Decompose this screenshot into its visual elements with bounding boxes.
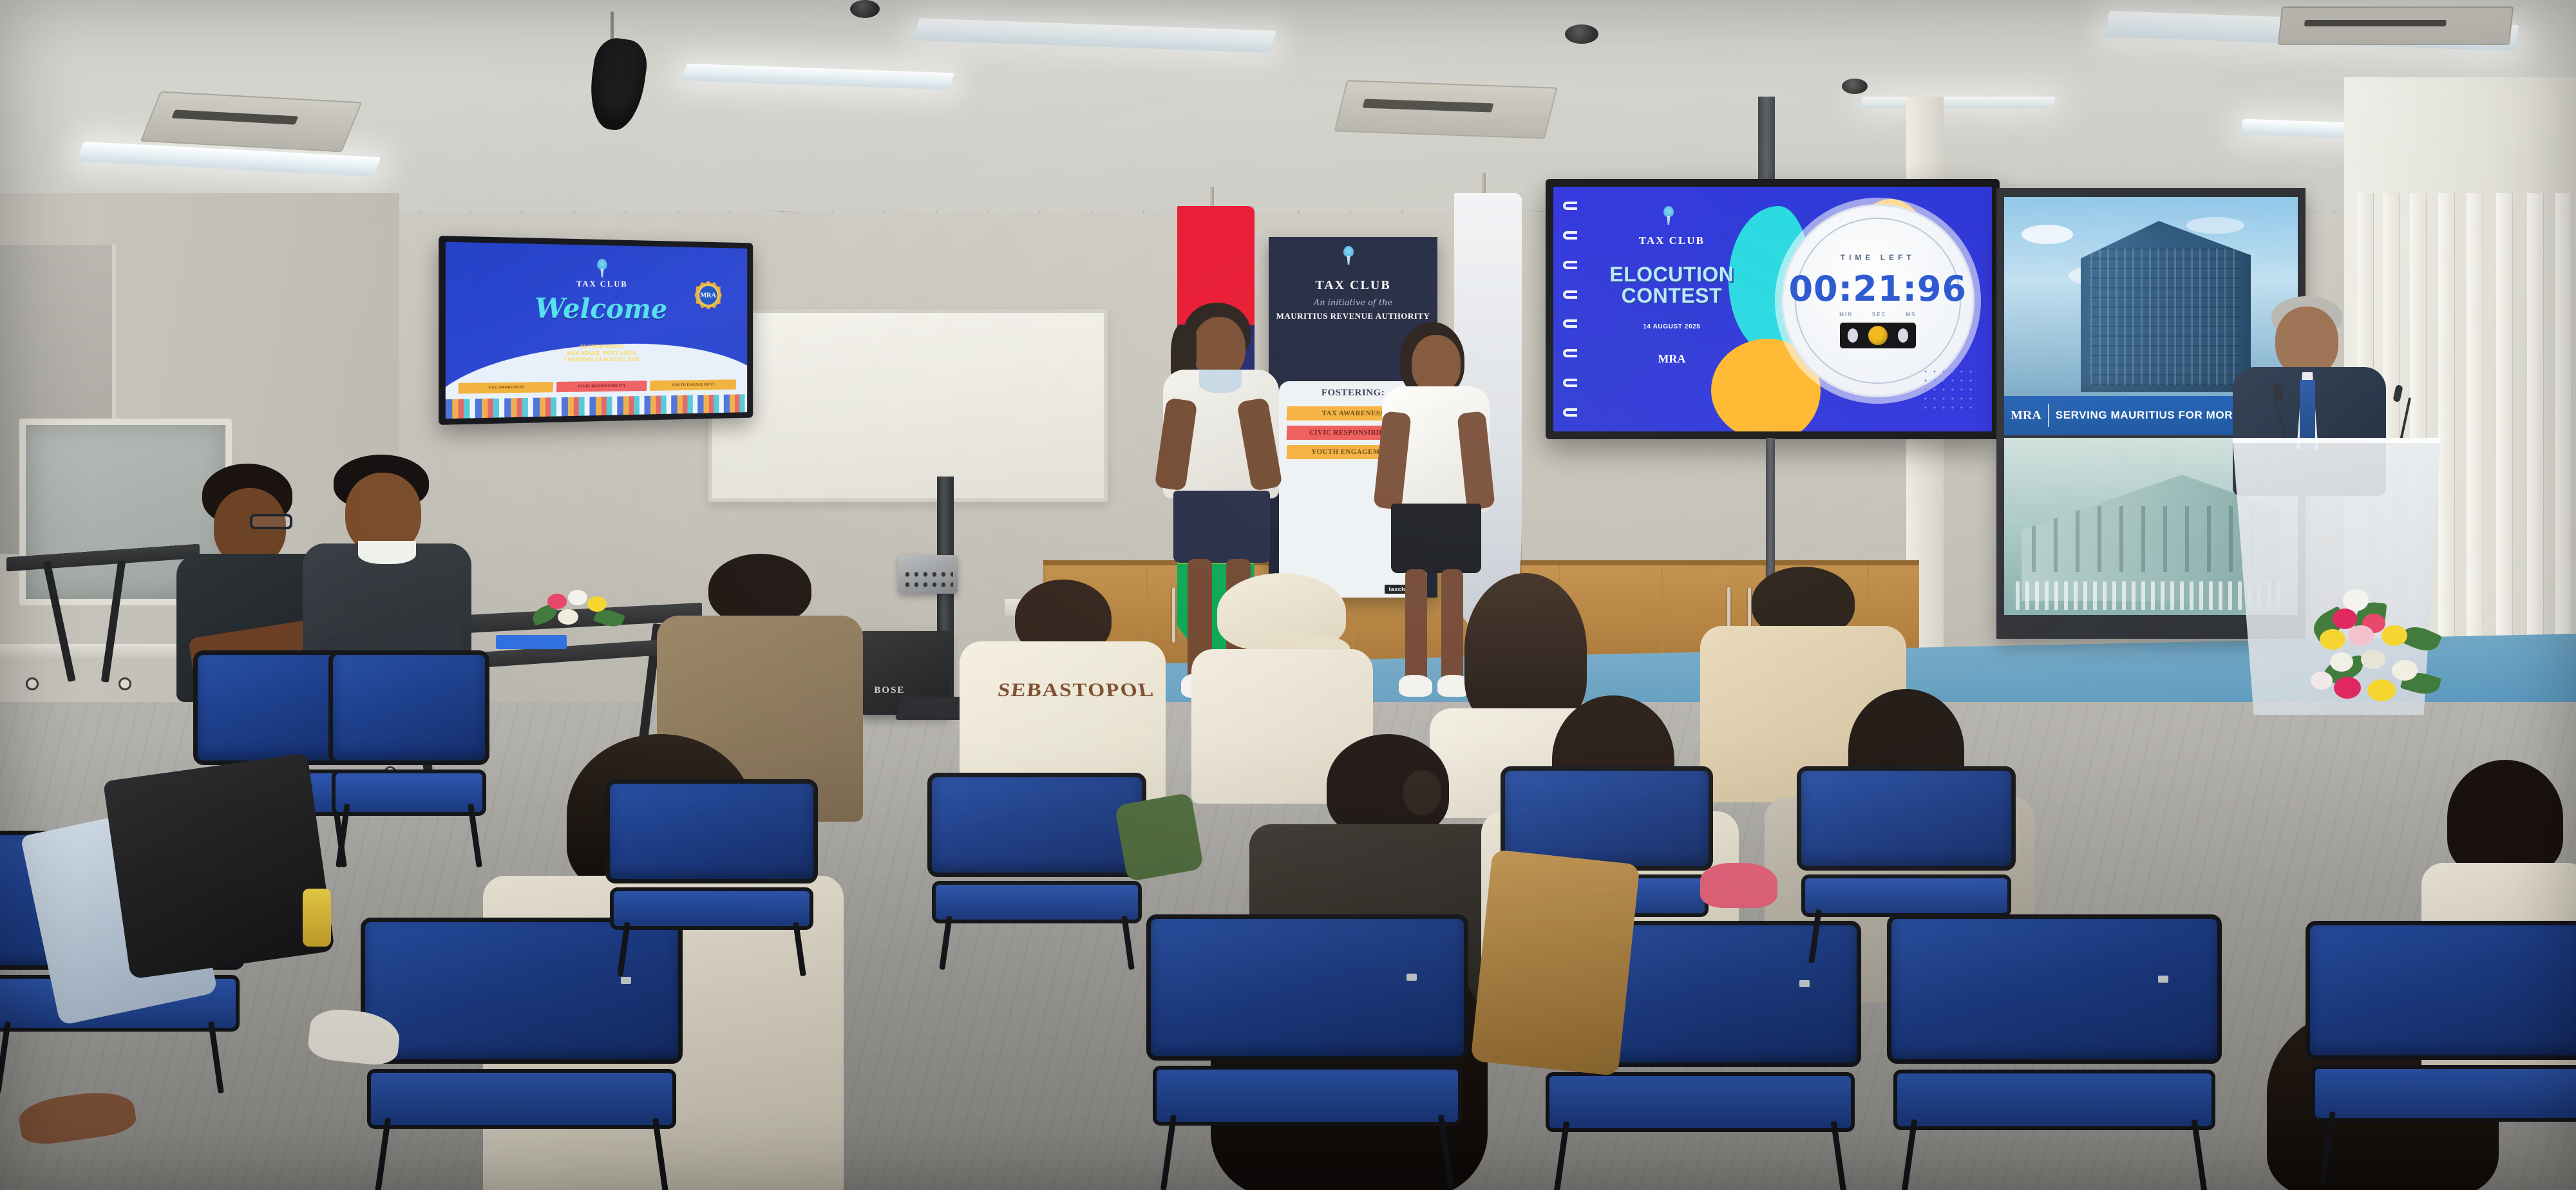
chair-seat[interactable] [2311, 1065, 2576, 1122]
welcome-banner-2: CIVIC RESPONSIBILITY [556, 381, 647, 392]
hanging-speaker-icon [585, 35, 650, 133]
chair-leg [939, 916, 952, 970]
notebook-spiral-decoration [1563, 202, 1580, 417]
tv-ceiling-pole [1758, 97, 1775, 187]
chair-tag [621, 977, 631, 984]
leg [1405, 569, 1427, 683]
chair-leg [1121, 916, 1135, 970]
chair-leg [208, 1021, 223, 1093]
conference-room-photo: TAX CLUB Welcome CUSTOM HOUSE MRA HOUSE,… [0, 0, 2576, 1190]
rollup-script-line: An initiative of the [1274, 298, 1432, 308]
ceiling-light-panel [681, 64, 954, 90]
ceiling-dome-speaker-icon [850, 0, 880, 18]
chair-leg [793, 922, 806, 976]
chair-leg [1160, 1115, 1177, 1190]
decor-dot-grid [1921, 367, 1979, 412]
chair-seat[interactable] [367, 1069, 676, 1128]
welcome-slide: TAX CLUB Welcome CUSTOM HOUSE MRA HOUSE,… [446, 242, 747, 419]
timer-date: 14 AUGUST 2025 [1593, 323, 1750, 330]
mixer-knobs[interactable] [903, 569, 952, 589]
chair-backrest[interactable] [2306, 921, 2576, 1060]
rollup-club-name: TAX CLUB [1274, 278, 1432, 293]
mra-logo-icon: MRA [2011, 408, 2041, 423]
white-collar [358, 541, 416, 564]
chair-backrest[interactable] [927, 773, 1146, 877]
ceiling-light-panel [1860, 97, 2056, 108]
unit-minutes: MIN [1839, 312, 1853, 317]
divider [2048, 404, 2049, 427]
blue-document-folder [496, 635, 567, 649]
audience-person-sebastopol: SEBASTOPOL [960, 580, 1166, 798]
chair-seat[interactable] [610, 887, 814, 930]
chair-leg [0, 1021, 11, 1093]
left-display-screen[interactable]: TAX CLUB Welcome CUSTOM HOUSE MRA HOUSE,… [439, 236, 753, 425]
green-pouch [1114, 792, 1204, 882]
ceiling-dome-speaker-icon [1565, 24, 1598, 44]
pink-shoe [1700, 863, 1777, 908]
chair-backrest[interactable] [1797, 766, 2016, 871]
ceiling-dome-speaker-icon [1842, 79, 1868, 94]
tan-shoulder-bag [1470, 849, 1640, 1076]
timer-club-name: TAX CLUB [1593, 234, 1750, 247]
chair[interactable] [927, 773, 1146, 966]
navy-skirt [1173, 491, 1270, 563]
rollup-authority: MAURITIUS REVENUE AUTHORITY [1274, 311, 1432, 321]
countdown-value: 00:21:96 [1788, 269, 1967, 309]
vertical-blind-slat [2555, 193, 2572, 670]
chair-seat[interactable] [932, 881, 1142, 923]
ceiling-light-panel [913, 18, 1276, 53]
hair-bun [1403, 770, 1441, 815]
chair[interactable] [328, 650, 489, 863]
chair-tag [2158, 976, 2168, 983]
chair[interactable] [1797, 766, 2016, 959]
chair-seat[interactable] [1153, 1066, 1462, 1125]
vertical-blind-slat [2527, 193, 2544, 670]
chair-backrest[interactable] [605, 779, 818, 883]
torch-icon [594, 259, 610, 278]
vertical-blind-slat [2496, 193, 2513, 670]
rollup-header: TAX CLUB An initiative of the MAURITIUS … [1269, 237, 1437, 324]
speaker-brand-label: BOSE [874, 685, 905, 696]
chair[interactable] [2306, 921, 2576, 1178]
table-caster [118, 677, 131, 690]
countdown-units: MIN SEC MS [1839, 312, 1916, 317]
chair[interactable] [1146, 914, 1468, 1185]
chair-leg [1808, 909, 1822, 963]
hair [708, 554, 811, 625]
ceiling-air-vent [1334, 80, 1557, 139]
hair [2447, 760, 2563, 876]
toggle-knob[interactable] [1868, 326, 1888, 345]
polo-collar [1199, 370, 1242, 393]
ceiling-air-vent [2278, 6, 2514, 45]
timer-left-column: TAX CLUB ELOCUTION CONTEST 14 AUGUST 202… [1593, 206, 1750, 365]
chair-seat[interactable] [332, 770, 486, 817]
vertical-blind-slat [2467, 193, 2483, 670]
sneaker [1399, 675, 1432, 697]
table-caster [26, 677, 39, 690]
chair-leg [2320, 1111, 2336, 1184]
ceiling-air-vent [140, 91, 363, 153]
navy-skirt [1391, 504, 1481, 573]
eyeglasses-icon [250, 514, 292, 529]
chair-backrest[interactable] [328, 650, 489, 765]
chair-seat[interactable] [1801, 874, 2011, 917]
torch-icon [1340, 246, 1366, 277]
chair-seat[interactable] [1546, 1072, 1855, 1131]
chair-leg [1438, 1115, 1454, 1190]
chair[interactable] [605, 779, 818, 972]
time-left-label: TIME LEFT [1841, 253, 1915, 262]
bag-charm [303, 889, 331, 947]
welcome-banner-1: TAX AWARENESS [459, 382, 554, 394]
chair-tag [1799, 980, 1810, 987]
timer-title-line-2: CONTEST [1593, 285, 1750, 307]
timer-logo-mark: MRA [1658, 352, 1685, 366]
mra-logo-icon: MRA [1593, 352, 1750, 366]
timer-slide: TAX CLUB ELOCUTION CONTEST 14 AUGUST 202… [1553, 187, 1992, 431]
audio-mixer-icon[interactable] [898, 555, 958, 594]
welcome-badge-mark: MRA [701, 291, 716, 299]
table-flower-bouquet-icon [528, 587, 631, 639]
shirt-text: SEBASTOPOL [994, 680, 1135, 715]
mra-logo-icon: MRA [699, 286, 717, 305]
chair-leg [375, 1118, 391, 1190]
chair-leg [617, 922, 630, 976]
unit-milliseconds: MS [1906, 312, 1916, 317]
chair-seat[interactable] [1893, 1070, 2215, 1131]
chair-backrest[interactable] [1146, 914, 1468, 1061]
head [2275, 307, 2338, 376]
welcome-venue-block: CUSTOM HOUSE MRA HOUSE, PORT LOUIS THURS… [446, 343, 747, 364]
head [1412, 335, 1461, 393]
main-display-screen[interactable]: TAX CLUB ELOCUTION CONTEST 14 AUGUST 202… [1546, 179, 2000, 439]
chair-tag [1406, 974, 1417, 981]
chair-leg [652, 1118, 668, 1190]
projection-whiteboard [708, 309, 1108, 502]
unit-seconds: SEC [1872, 312, 1886, 317]
black-backpack [103, 753, 335, 979]
torch-icon [1660, 206, 1683, 233]
timer-title-line-1: ELOCUTION [1593, 264, 1750, 285]
flower-bouquet-icon [2306, 583, 2460, 712]
clock-toggle-switch[interactable] [1840, 323, 1916, 348]
welcome-banner-3: YOUTH ENGAGEMENT [650, 379, 736, 391]
